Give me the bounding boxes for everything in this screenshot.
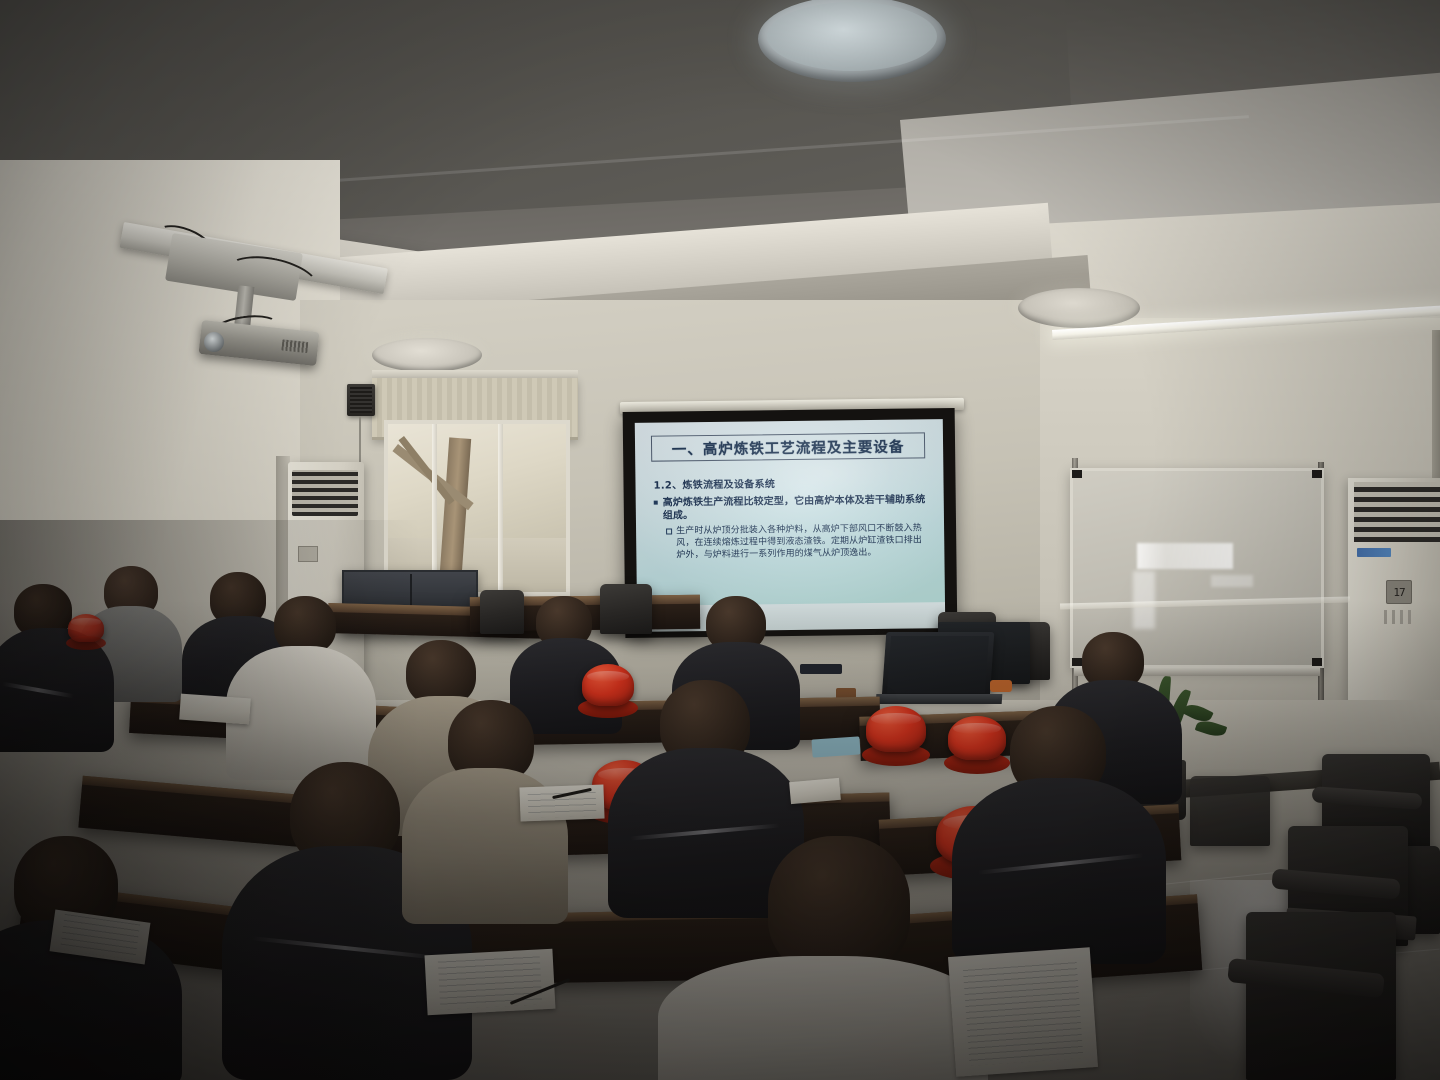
chair[interactable] — [480, 590, 524, 634]
notebook-lines — [963, 958, 1083, 1066]
notebook — [948, 947, 1098, 1077]
desk-equipment — [800, 664, 842, 674]
laptop-screen — [887, 636, 989, 693]
hardhat — [582, 664, 634, 706]
slide-bullet-level2: 生产时从炉顶分批装入各种炉料，从高炉下部风口不断鼓入热风，在连续熔炼过程中得到液… — [654, 523, 930, 563]
desk-object — [990, 680, 1012, 692]
desk-item-cloth — [811, 736, 860, 757]
whiteboard-corner — [1312, 658, 1322, 666]
laptop-keyboard[interactable] — [876, 694, 1003, 704]
slide-body: 1.2、炼铁流程及设备系统 高炉炼铁生产流程比较定型，它由高炉本体及若干辅助系统… — [653, 473, 930, 562]
chair[interactable] — [600, 584, 652, 634]
hardhat — [866, 706, 926, 752]
ac-vent-grille-icon — [1354, 482, 1440, 542]
ac-control-panel[interactable] — [298, 546, 318, 562]
ceiling-light-icon — [372, 338, 482, 372]
paper-sheet — [789, 778, 841, 804]
ac-temperature-value: 17 — [1393, 586, 1404, 599]
whiteboard-reflection — [1133, 571, 1155, 629]
ceiling-light-icon — [758, 0, 946, 82]
paper-sheet — [179, 694, 251, 725]
slide-bullet-level1: 高炉炼铁生产流程比较定型，它由高炉本体及若干辅助系统组成。 — [654, 493, 930, 523]
ac-brand-logo — [1357, 548, 1391, 557]
slide-title: 一、高炉炼铁工艺流程及主要设备 — [672, 435, 905, 459]
whiteboard-corner — [1312, 470, 1322, 478]
whiteboard-corner — [1072, 658, 1082, 666]
notebook — [425, 949, 556, 1016]
hardhat — [68, 614, 104, 642]
notebook-lines — [528, 788, 596, 819]
attendee-head — [768, 836, 910, 976]
classroom-photo: 17 一、高炉炼铁工艺流程及主要设备 1.2、炼铁流程及设备系统 高炉炼铁生产流… — [0, 0, 1440, 1080]
hardhat — [948, 716, 1006, 760]
chair[interactable] — [1190, 776, 1270, 846]
window-mullion — [432, 424, 437, 592]
whiteboard-corner — [1072, 470, 1082, 478]
ceiling-light-icon — [1018, 288, 1140, 328]
wall-speaker — [347, 384, 375, 416]
window-glass — [388, 424, 566, 592]
projection-screen-surface: 一、高炉炼铁工艺流程及主要设备 1.2、炼铁流程及设备系统 高炉炼铁生产流程比较… — [635, 419, 945, 608]
whiteboard-reflection — [1137, 543, 1233, 569]
slide-subtitle: 1.2、炼铁流程及设备系统 — [653, 473, 929, 491]
ac-vent-grille-icon — [292, 470, 358, 516]
ac-buttons[interactable] — [1384, 610, 1414, 624]
attendee-body — [658, 956, 988, 1080]
laptop[interactable] — [882, 632, 995, 698]
slide-title-box: 一、高炉炼铁工艺流程及主要设备 — [651, 432, 925, 461]
window-mullion — [498, 424, 503, 592]
whiteboard-reflection — [1211, 575, 1253, 587]
ac-temperature-display: 17 — [1386, 580, 1412, 604]
notebook-lines — [438, 954, 543, 1010]
notebook-lines — [60, 914, 141, 960]
notebook — [519, 785, 604, 822]
